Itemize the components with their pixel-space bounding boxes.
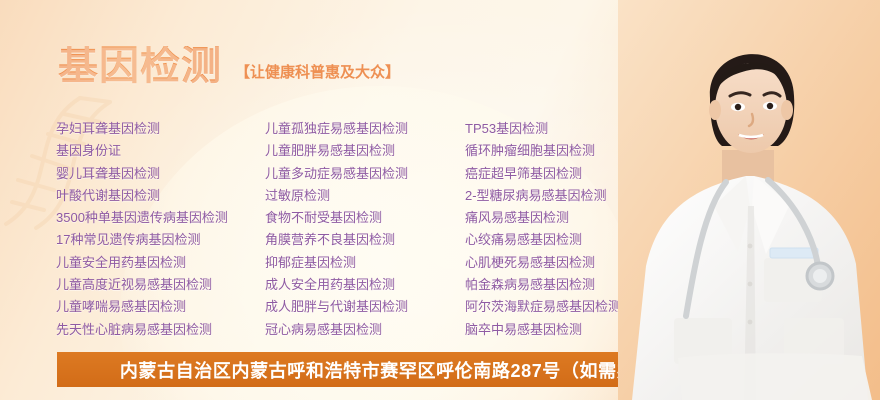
gene-test-list: 孕妇耳聋基因检测 基因身份证 婴儿耳聋基因检测 叶酸代谢基因检测 3500种单基… [56,118,705,341]
gene-testing-banner: 基因检测 【让健康科普惠及大众】 权威认证 精准分型 [0,0,880,400]
list-item[interactable]: 叶酸代谢基因检测 [56,185,265,207]
page-title: 基因检测 [58,46,222,86]
test-column-1: 孕妇耳聋基因检测 基因身份证 婴儿耳聋基因检测 叶酸代谢基因检测 3500种单基… [56,118,265,341]
list-item[interactable]: 儿童安全用药基因检测 [56,252,265,274]
page-subtitle: 【让健康科普惠及大众】 [235,61,400,82]
list-item[interactable]: 3500种单基因遗传病基因检测 [56,207,265,229]
test-column-2: 儿童孤独症易感基因检测 儿童肥胖易感基因检测 儿童多动症易感基因检测 过敏原检测… [265,118,465,341]
list-item[interactable]: 儿童孤独症易感基因检测 [265,118,465,140]
list-item[interactable]: 儿童高度近视易感基因检测 [56,274,265,296]
list-item[interactable]: 抑郁症基因检测 [265,252,465,274]
list-item[interactable]: 冠心病易感基因检测 [265,319,465,341]
doctor-foreground-overlap [676,350,880,400]
list-item[interactable]: 儿童多动症易感基因检测 [265,163,465,185]
list-item[interactable]: 成人肥胖与代谢基因检测 [265,296,465,318]
list-item[interactable]: 儿童肥胖易感基因检测 [265,140,465,162]
list-item[interactable]: 食物不耐受基因检测 [265,207,465,229]
list-item[interactable]: 婴儿耳聋基因检测 [56,163,265,185]
list-item[interactable]: 17种常见遗传病基因检测 [56,229,265,251]
list-item[interactable]: 儿童哮喘易感基因检测 [56,296,265,318]
doctor-photo [618,0,880,400]
list-item[interactable]: 先天性心脏病易感基因检测 [56,319,265,341]
banner-heading: 基因检测 【让健康科普惠及大众】 [58,46,400,86]
list-item[interactable]: 孕妇耳聋基因检测 [56,118,265,140]
list-item[interactable]: 成人安全用药基因检测 [265,274,465,296]
list-item[interactable]: 角膜营养不良基因检测 [265,229,465,251]
list-item[interactable]: 过敏原检测 [265,185,465,207]
list-item[interactable]: 基因身份证 [56,140,265,162]
